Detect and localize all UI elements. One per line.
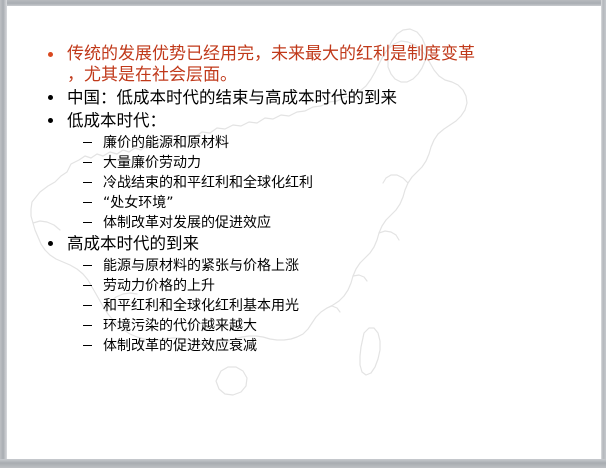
slide-frame: 传统的发展优势已经用完，未来最大的红利是制度变革，尤其是在社会层面。中国：低成本…	[0, 0, 606, 468]
bullet-text-line: 体制改革对发展的促进效应	[103, 213, 581, 233]
bullet-marker-dash	[83, 142, 92, 143]
bullet-low-cost-era: 低成本时代：	[41, 110, 581, 132]
bullet-marker-dash	[83, 325, 92, 326]
bullet-marker-dash	[83, 182, 92, 183]
subbullet-reform-promotes-development: 体制改革对发展的促进效应	[41, 213, 581, 233]
slide-body-text: 传统的发展优势已经用完，未来最大的红利是制度变革，尤其是在社会层面。中国：低成本…	[41, 44, 581, 356]
subbullet-peace-globalization-dividend: 冷战结束的和平红利和全球化红利	[41, 173, 581, 193]
subbullet-energy-material-price-rise: 能源与原材料的紧张与价格上涨	[41, 256, 581, 276]
bullet-text-line: 环境污染的代价越来越大	[103, 316, 581, 336]
bullet-marker-dash	[83, 162, 92, 163]
bullet-text-line: 体制改革的促进效应衰减	[103, 336, 581, 356]
bullet-marker-dash	[83, 265, 92, 266]
bullet-text-line: 能源与原材料的紧张与价格上涨	[103, 256, 581, 276]
bullet-china-era-transition: 中国：低成本时代的结束与高成本时代的到来	[41, 87, 581, 109]
slide-frame-bottom-edge	[0, 459, 606, 468]
subbullet-dividends-used-up: 和平红利和全球化红利基本用光	[41, 296, 581, 316]
bullet-marker-dot	[48, 118, 53, 123]
bullet-text-line: 冷战结束的和平红利和全球化红利	[103, 173, 581, 193]
subbullet-virgin-environment: “处女环境”	[41, 193, 581, 213]
bullet-marker-dash	[83, 345, 92, 346]
bullet-text-line: 大量廉价劳动力	[103, 153, 581, 173]
bullet-marker-dash	[83, 305, 92, 306]
bullet-text-line: 和平红利和全球化红利基本用光	[103, 296, 581, 316]
bullet-text-line: 传统的发展优势已经用完，未来最大的红利是制度变革	[67, 44, 581, 65]
bullet-text-line: 廉价的能源和原材料	[103, 133, 581, 153]
bullet-marker-dash	[83, 202, 92, 203]
bullet-marker-dot	[48, 95, 53, 100]
bullet-marker-dash	[83, 285, 92, 286]
subbullet-pollution-cost: 环境污染的代价越来越大	[41, 316, 581, 336]
bullet-marker-dash	[83, 222, 92, 223]
bullet-high-cost-era: 高成本时代的到来	[41, 233, 581, 255]
slide-frame-right-edge	[601, 0, 606, 468]
bullet-text-line: 低成本时代：	[67, 110, 581, 132]
slide-frame-left-edge	[0, 0, 7, 468]
subbullet-cheap-energy: 廉价的能源和原材料	[41, 133, 581, 153]
bullet-text-line: 中国：低成本时代的结束与高成本时代的到来	[67, 87, 581, 109]
bullet-institutional-reform: 传统的发展优势已经用完，未来最大的红利是制度变革，尤其是在社会层面。	[41, 44, 581, 86]
bullet-marker-dot	[48, 241, 53, 246]
bullet-text-line: 高成本时代的到来	[67, 233, 581, 255]
slide-canvas: 传统的发展优势已经用完，未来最大的红利是制度变革，尤其是在社会层面。中国：低成本…	[7, 6, 601, 459]
bullet-text-line: “处女环境”	[103, 193, 581, 213]
subbullet-labor-price-rise: 劳动力价格的上升	[41, 276, 581, 296]
bullet-marker-accent	[48, 52, 53, 57]
bullet-text-line: 劳动力价格的上升	[103, 276, 581, 296]
subbullet-reform-effect-decline: 体制改革的促进效应衰减	[41, 336, 581, 356]
bullet-text-line: ，尤其是在社会层面。	[67, 65, 581, 86]
subbullet-cheap-labor: 大量廉价劳动力	[41, 153, 581, 173]
